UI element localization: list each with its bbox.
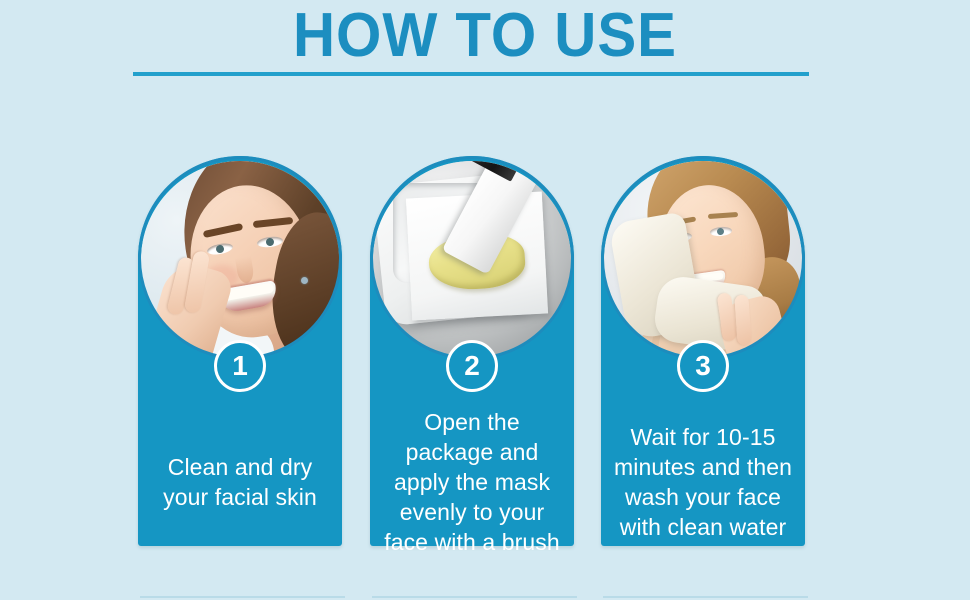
caption-line: with clean water: [605, 512, 801, 542]
steps-row: 1 Clean and dry your facial skin: [0, 140, 970, 550]
title-underline-rule: [133, 72, 809, 76]
woman-drying-face-with-towel-photo: [604, 161, 802, 359]
step-3-panel: 3 Wait for 10-15 minutes and then wash y…: [601, 156, 805, 546]
step-number-badge-2: 2: [446, 340, 498, 392]
step-number-badge-3: 3: [677, 340, 729, 392]
header: HOW TO USE: [0, 0, 970, 90]
step-2-caption: Open the package and apply the mask even…: [374, 407, 570, 557]
step-number-badge-1: 1: [214, 340, 266, 392]
page-title: HOW TO USE: [29, 2, 941, 70]
step-1-caption: Clean and dry your facial skin: [142, 452, 338, 512]
step-card-3[interactable]: 3 Wait for 10-15 minutes and then wash y…: [601, 140, 805, 548]
caption-line: face with a brush: [374, 527, 570, 557]
caption-line: your facial skin: [142, 482, 338, 512]
caption-line: Wait for 10-15: [605, 422, 801, 452]
caption-line: evenly to your: [374, 497, 570, 527]
caption-line: wash your face: [605, 482, 801, 512]
woman-cleansing-face-photo: [141, 161, 339, 359]
caption-line: Open the: [374, 407, 570, 437]
how-to-use-infographic: HOW TO USE: [0, 0, 970, 600]
caption-line: Clean and dry: [142, 452, 338, 482]
step-3-caption: Wait for 10-15 minutes and then wash you…: [605, 422, 801, 542]
bottom-divider-2: [372, 596, 577, 598]
bottom-divider-1: [140, 596, 345, 598]
step-1-panel: 1 Clean and dry your facial skin: [138, 156, 342, 546]
brush-applying-yellow-mask-photo: [373, 161, 571, 359]
step-card-1[interactable]: 1 Clean and dry your facial skin: [138, 140, 342, 548]
step-card-2[interactable]: 2 Open the package and apply the mask ev…: [370, 140, 574, 548]
step-2-panel: 2 Open the package and apply the mask ev…: [370, 156, 574, 546]
caption-line: apply the mask: [374, 467, 570, 497]
bottom-divider-3: [603, 596, 808, 598]
caption-line: package and: [374, 437, 570, 467]
caption-line: minutes and then: [605, 452, 801, 482]
